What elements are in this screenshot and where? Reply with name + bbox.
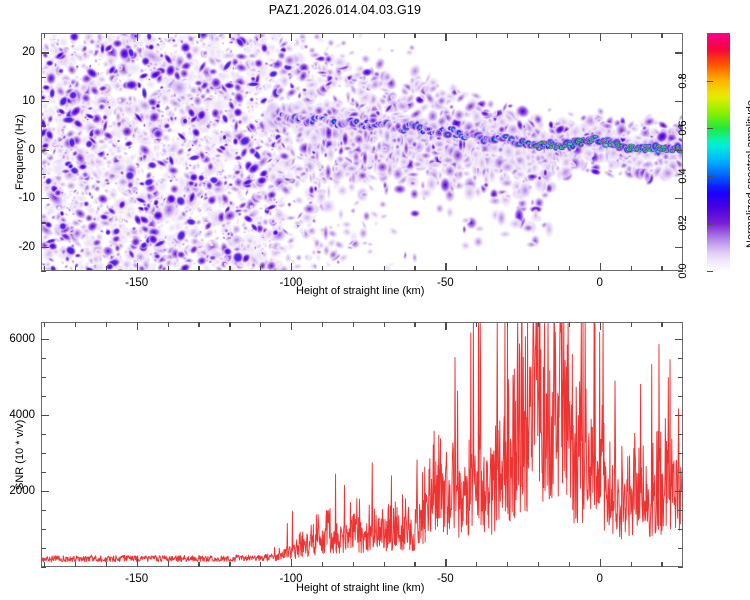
axis-tick [707, 128, 713, 129]
axis-tick [507, 562, 508, 567]
axis-tick [600, 33, 601, 41]
axis-tick [384, 562, 385, 567]
axis-tick [414, 266, 415, 271]
axis-tick [445, 263, 446, 271]
axis-tick [260, 322, 261, 327]
axis-tick [291, 322, 292, 330]
axis-tick [41, 510, 46, 511]
axis-tick [41, 52, 49, 53]
axis-tick [75, 266, 76, 271]
snr-xaxis-title: Height of straight line (km) [296, 582, 424, 594]
axis-tick [661, 33, 662, 38]
spectrogram-xtick-label: 0 [596, 277, 602, 289]
axis-tick [198, 33, 199, 38]
axis-tick [445, 322, 446, 330]
axis-tick [631, 33, 632, 38]
axis-tick [75, 322, 76, 327]
spectrogram-ytick-label: -20 [0, 241, 35, 253]
axis-tick [322, 562, 323, 567]
figure-canvas: PAZ1.2026.014.04.03.G19 -150-100-500 201… [0, 0, 750, 600]
axis-tick [353, 322, 354, 327]
axis-tick [41, 415, 49, 416]
axis-tick [678, 358, 683, 359]
axis-tick [678, 377, 683, 378]
axis-tick [106, 562, 107, 567]
axis-tick [322, 33, 323, 38]
axis-tick [41, 472, 46, 473]
axis-tick [476, 562, 477, 567]
axis-tick [675, 52, 683, 53]
snr-line [42, 323, 682, 562]
snr-xtick-label: -150 [125, 573, 148, 585]
colorbar-tick-label: 0.0 [677, 263, 689, 278]
axis-tick [678, 529, 683, 530]
figure-title: PAZ1.2026.014.04.03.G19 [0, 3, 690, 17]
axis-tick [41, 222, 46, 223]
spectrogram-xtick-label: -50 [437, 277, 454, 289]
axis-tick [291, 559, 292, 567]
axis-tick [229, 266, 230, 271]
axis-tick [631, 562, 632, 567]
axis-tick [44, 322, 45, 327]
axis-tick [41, 491, 49, 492]
axis-tick [569, 33, 570, 38]
axis-tick [198, 562, 199, 567]
axis-tick [322, 322, 323, 327]
axis-tick [106, 266, 107, 271]
spectrogram-ytick-label: 20 [0, 46, 35, 58]
axis-tick [41, 567, 46, 568]
axis-tick [75, 562, 76, 567]
axis-tick [707, 81, 713, 82]
axis-tick [707, 223, 713, 224]
axis-tick [414, 322, 415, 327]
axis-tick [678, 548, 683, 549]
axis-tick [291, 263, 292, 271]
axis-tick [661, 266, 662, 271]
axis-tick [353, 266, 354, 271]
axis-tick [661, 322, 662, 327]
axis-tick [600, 322, 601, 330]
axis-tick [678, 510, 683, 511]
snr-plot-area [42, 323, 682, 566]
axis-tick [631, 266, 632, 271]
axis-tick [75, 33, 76, 38]
axis-tick [41, 174, 46, 175]
axis-tick [41, 125, 46, 126]
axis-tick [507, 33, 508, 38]
axis-tick [675, 415, 683, 416]
spectrogram-canvas [42, 34, 682, 270]
axis-tick [41, 453, 46, 454]
axis-tick [507, 322, 508, 327]
axis-tick [414, 33, 415, 38]
axis-tick [41, 548, 46, 549]
colorbar-title: Normalized spectral amplitude [745, 100, 750, 248]
axis-tick [678, 567, 683, 568]
axis-tick [41, 77, 46, 78]
axis-tick [168, 562, 169, 567]
axis-tick [353, 562, 354, 567]
axis-tick [675, 339, 683, 340]
axis-tick [168, 322, 169, 327]
axis-tick [229, 33, 230, 38]
axis-tick [260, 266, 261, 271]
snr-canvas [42, 323, 682, 566]
spectrogram-image [42, 34, 682, 270]
axis-tick [678, 453, 683, 454]
colorbar-tick-label: 0.8 [677, 73, 689, 88]
axis-tick [675, 101, 683, 102]
axis-tick [137, 263, 138, 271]
colorbar [707, 33, 730, 271]
spectrogram-yaxis-title: Frequency (Hz) [14, 114, 26, 190]
axis-tick [538, 33, 539, 38]
colorbar-tick-label: 0.2 [677, 216, 689, 231]
axis-tick [675, 150, 683, 151]
axis-tick [291, 33, 292, 41]
axis-tick [41, 198, 49, 199]
axis-tick [41, 377, 46, 378]
axis-tick [41, 396, 46, 397]
axis-tick [260, 33, 261, 38]
axis-tick [678, 434, 683, 435]
axis-tick [569, 562, 570, 567]
axis-tick [707, 271, 713, 272]
axis-tick [322, 266, 323, 271]
axis-tick [600, 559, 601, 567]
snr-ytick-label: 6000 [0, 333, 35, 345]
axis-tick [507, 266, 508, 271]
axis-tick [707, 176, 713, 177]
axis-tick [476, 33, 477, 38]
axis-tick [41, 101, 49, 102]
spectrogram-panel [41, 33, 683, 271]
axis-tick [569, 266, 570, 271]
snr-xtick-label: 0 [596, 573, 602, 585]
axis-tick [445, 559, 446, 567]
axis-tick [476, 322, 477, 327]
spectrogram-xtick-label: -150 [125, 277, 148, 289]
axis-tick [198, 322, 199, 327]
axis-tick [675, 198, 683, 199]
axis-tick [137, 559, 138, 567]
axis-tick [168, 33, 169, 38]
axis-tick [631, 322, 632, 327]
axis-tick [44, 33, 45, 38]
axis-tick [41, 434, 46, 435]
colorbar-tick-label: 0.4 [677, 168, 689, 183]
spectrogram-xaxis-title: Height of straight line (km) [296, 285, 424, 297]
axis-tick [260, 562, 261, 567]
spectrogram-ytick-label: 10 [0, 95, 35, 107]
snr-panel [41, 322, 683, 567]
axis-tick [106, 33, 107, 38]
snr-xtick-label: -50 [437, 573, 454, 585]
axis-tick [414, 562, 415, 567]
axis-tick [675, 491, 683, 492]
axis-tick [353, 33, 354, 38]
axis-tick [229, 562, 230, 567]
axis-tick [661, 562, 662, 567]
axis-tick [198, 266, 199, 271]
axis-tick [384, 33, 385, 38]
axis-tick [569, 322, 570, 327]
axis-tick [41, 150, 49, 151]
axis-tick [538, 562, 539, 567]
axis-tick [678, 472, 683, 473]
axis-tick [41, 529, 46, 530]
colorbar-tick-label: 0.6 [677, 121, 689, 136]
axis-tick [538, 322, 539, 327]
axis-tick [384, 266, 385, 271]
spectrogram-ytick-label: -10 [0, 192, 35, 204]
axis-tick [137, 322, 138, 330]
axis-tick [538, 266, 539, 271]
axis-tick [476, 266, 477, 271]
axis-tick [229, 322, 230, 327]
axis-tick [168, 266, 169, 271]
axis-tick [445, 33, 446, 41]
axis-tick [41, 339, 49, 340]
axis-tick [137, 33, 138, 41]
axis-tick [384, 322, 385, 327]
axis-tick [678, 396, 683, 397]
axis-tick [675, 247, 683, 248]
axis-tick [41, 271, 46, 272]
axis-tick [41, 247, 49, 248]
axis-tick [41, 358, 46, 359]
snr-yaxis-title: SNR (10 * v/v) [14, 420, 26, 490]
axis-tick [106, 322, 107, 327]
axis-tick [600, 263, 601, 271]
